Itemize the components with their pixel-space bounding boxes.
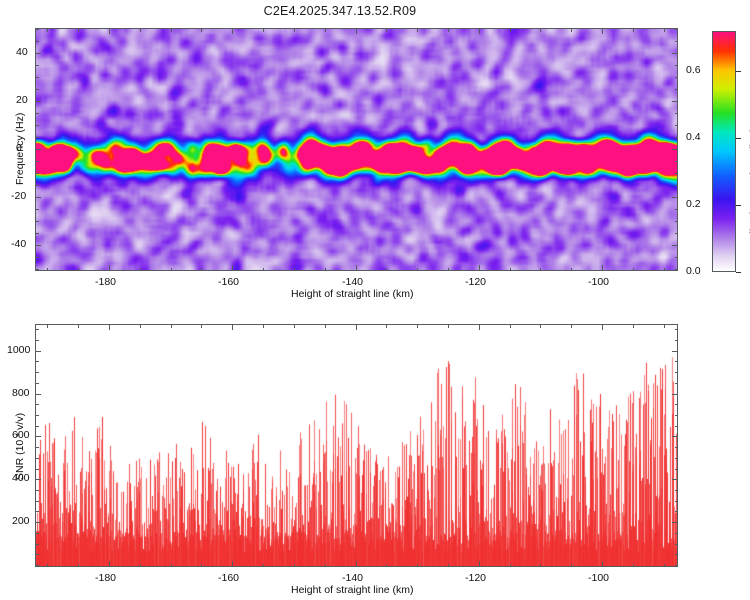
axis-tick	[672, 436, 678, 437]
axis-tick	[672, 479, 678, 480]
axis-tick	[294, 268, 295, 272]
axis-tick	[571, 564, 572, 568]
axis-tick	[675, 404, 679, 405]
axis-tick	[386, 324, 387, 328]
axis-tick	[602, 324, 603, 330]
axis-tick	[672, 522, 678, 523]
axis-tick	[675, 501, 679, 502]
axis-tick	[35, 436, 41, 437]
axis-tick	[633, 268, 634, 272]
axis-tick	[540, 28, 541, 32]
axis-tick	[232, 324, 233, 330]
axis-tick	[675, 209, 679, 210]
axis-tick	[171, 268, 172, 272]
axis-tick	[171, 28, 172, 32]
axis-tick	[78, 268, 79, 272]
axis-tick	[417, 564, 418, 568]
axis-tick	[78, 324, 79, 328]
axis-tick	[35, 221, 39, 222]
axis-tick	[417, 28, 418, 32]
axis-tick	[672, 149, 678, 150]
axis-tick	[448, 28, 449, 32]
colorbar-gradient	[713, 32, 735, 271]
axis-tick	[448, 324, 449, 328]
axis-tick	[672, 394, 678, 395]
axis-tick	[664, 268, 665, 272]
axis-tick	[672, 245, 678, 246]
spectrogram-ytick-label: 20	[16, 94, 28, 106]
axis-tick	[35, 125, 39, 126]
axis-tick	[35, 29, 39, 30]
axis-tick	[675, 221, 679, 222]
axis-tick	[35, 113, 39, 114]
axis-tick	[201, 564, 202, 568]
axis-tick	[140, 268, 141, 272]
axis-tick	[417, 324, 418, 328]
axis-tick	[675, 565, 679, 566]
axis-tick	[325, 324, 326, 328]
axis-tick	[602, 561, 603, 567]
axis-tick	[675, 447, 679, 448]
axis-tick	[35, 161, 39, 162]
axis-tick	[675, 415, 679, 416]
axis-tick	[35, 269, 39, 270]
axis-tick	[35, 329, 39, 330]
axis-tick	[35, 383, 39, 384]
axis-tick	[664, 28, 665, 32]
axis-tick	[78, 28, 79, 32]
axis-tick	[479, 265, 480, 271]
axis-tick	[675, 361, 679, 362]
axis-tick	[35, 565, 39, 566]
snr-xlabel: Height of straight line (km)	[291, 584, 414, 596]
axis-tick	[140, 564, 141, 568]
axis-tick	[201, 324, 202, 328]
snr-ytick-label: 800	[12, 387, 30, 399]
colorbar-tick	[736, 71, 741, 72]
axis-tick	[109, 561, 110, 567]
snr-xtick-label: -160	[218, 572, 239, 584]
axis-tick	[35, 245, 41, 246]
axis-tick	[386, 564, 387, 568]
axis-tick	[35, 501, 39, 502]
axis-tick	[294, 324, 295, 328]
axis-tick	[675, 257, 679, 258]
axis-tick	[675, 113, 679, 114]
axis-tick	[232, 28, 233, 34]
spectrogram-image	[36, 29, 677, 270]
axis-tick	[510, 28, 511, 32]
axis-tick	[386, 28, 387, 32]
axis-tick	[35, 447, 39, 448]
axis-tick	[35, 361, 39, 362]
axis-tick	[417, 268, 418, 272]
axis-tick	[571, 28, 572, 32]
axis-tick	[35, 533, 39, 534]
axis-tick	[672, 197, 678, 198]
spectrogram-ytick-label: 40	[16, 46, 28, 58]
axis-tick	[633, 324, 634, 328]
axis-tick	[232, 561, 233, 567]
axis-tick	[35, 394, 41, 395]
axis-tick	[386, 268, 387, 272]
axis-tick	[675, 77, 679, 78]
axis-tick	[675, 269, 679, 270]
axis-tick	[78, 564, 79, 568]
axis-tick	[263, 268, 264, 272]
axis-tick	[35, 185, 39, 186]
axis-tick	[35, 372, 39, 373]
colorbar-tick	[736, 138, 741, 139]
axis-tick	[675, 458, 679, 459]
axis-tick	[35, 340, 39, 341]
spectrogram-ylabel: Frequency (Hz)	[14, 113, 26, 185]
axis-tick	[675, 125, 679, 126]
axis-tick	[35, 479, 41, 480]
axis-tick	[672, 351, 678, 352]
axis-tick	[47, 28, 48, 32]
axis-tick	[35, 458, 39, 459]
axis-tick	[35, 197, 41, 198]
snr-xtick-label: -140	[342, 572, 363, 584]
axis-tick	[675, 340, 679, 341]
axis-tick	[510, 564, 511, 568]
spectrogram-ytick-label: -40	[11, 238, 26, 250]
colorbar	[712, 31, 736, 272]
snr-ytick-label: 200	[12, 515, 30, 527]
snr-panel	[35, 324, 678, 567]
colorbar-tick-label: 0.0	[686, 265, 701, 277]
axis-tick	[109, 28, 110, 34]
page-title: C2E4.2025.347.13.52.R09	[0, 4, 680, 18]
figure-root: C2E4.2025.347.13.52.R09 -180-160-140-120…	[0, 0, 750, 600]
axis-tick	[672, 53, 678, 54]
axis-tick	[35, 522, 41, 523]
axis-tick	[109, 265, 110, 271]
axis-tick	[356, 561, 357, 567]
axis-tick	[675, 41, 679, 42]
colorbar-tick	[736, 205, 741, 206]
axis-tick	[35, 554, 39, 555]
axis-tick	[571, 324, 572, 328]
snr-xtick-label: -100	[588, 572, 609, 584]
axis-tick	[35, 65, 39, 66]
axis-tick	[35, 233, 39, 234]
axis-tick	[448, 268, 449, 272]
axis-tick	[35, 77, 39, 78]
axis-tick	[479, 561, 480, 567]
axis-tick	[448, 564, 449, 568]
axis-tick	[479, 28, 480, 34]
spectrogram-xtick-label: -100	[588, 276, 609, 288]
axis-tick	[35, 351, 41, 352]
spectrogram-xtick-label: -160	[218, 276, 239, 288]
axis-tick	[325, 564, 326, 568]
axis-tick	[263, 28, 264, 32]
axis-tick	[35, 173, 39, 174]
axis-tick	[35, 209, 39, 210]
snr-xtick-label: -120	[465, 572, 486, 584]
axis-tick	[35, 257, 39, 258]
axis-tick	[675, 161, 679, 162]
axis-tick	[140, 324, 141, 328]
axis-tick	[633, 564, 634, 568]
axis-tick	[602, 265, 603, 271]
axis-tick	[35, 41, 39, 42]
axis-tick	[675, 533, 679, 534]
spectrogram-xtick-label: -120	[465, 276, 486, 288]
axis-tick	[294, 28, 295, 32]
colorbar-tick-label: 0.6	[686, 64, 701, 76]
axis-tick	[540, 324, 541, 328]
axis-tick	[675, 137, 679, 138]
axis-tick	[675, 185, 679, 186]
axis-tick	[633, 28, 634, 32]
axis-tick	[47, 564, 48, 568]
axis-tick	[675, 29, 679, 30]
axis-tick	[602, 28, 603, 34]
colorbar-tick-label: 0.2	[686, 198, 701, 210]
axis-tick	[140, 28, 141, 32]
axis-tick	[510, 324, 511, 328]
axis-tick	[35, 404, 39, 405]
axis-tick	[35, 426, 39, 427]
spectrogram-xlabel: Height of straight line (km)	[291, 288, 414, 300]
snr-xtick-label: -180	[95, 572, 116, 584]
axis-tick	[675, 490, 679, 491]
axis-tick	[325, 268, 326, 272]
axis-tick	[675, 89, 679, 90]
axis-tick	[171, 324, 172, 328]
snr-ylabel: SNR (10 * v/v)	[14, 413, 26, 480]
axis-tick	[675, 233, 679, 234]
axis-tick	[675, 511, 679, 512]
axis-tick	[540, 268, 541, 272]
axis-tick	[540, 564, 541, 568]
axis-tick	[675, 173, 679, 174]
axis-tick	[35, 511, 39, 512]
snr-ytick-label: 1000	[7, 344, 30, 356]
axis-tick	[35, 89, 39, 90]
axis-tick	[571, 268, 572, 272]
axis-tick	[35, 101, 41, 102]
axis-tick	[675, 554, 679, 555]
axis-tick	[675, 544, 679, 545]
colorbar-tick	[736, 272, 741, 273]
axis-tick	[109, 324, 110, 330]
axis-tick	[675, 372, 679, 373]
axis-tick	[675, 65, 679, 66]
axis-tick	[510, 268, 511, 272]
axis-tick	[263, 324, 264, 328]
axis-tick	[35, 53, 41, 54]
spectrogram-xtick-label: -180	[95, 276, 116, 288]
axis-tick	[35, 415, 39, 416]
axis-tick	[356, 265, 357, 271]
axis-tick	[672, 101, 678, 102]
axis-tick	[664, 564, 665, 568]
axis-tick	[201, 28, 202, 32]
axis-tick	[294, 564, 295, 568]
axis-tick	[675, 469, 679, 470]
axis-tick	[35, 490, 39, 491]
axis-tick	[356, 28, 357, 34]
colorbar-tick-label: 0.4	[686, 131, 701, 143]
axis-tick	[664, 324, 665, 328]
axis-tick	[263, 564, 264, 568]
axis-tick	[35, 544, 39, 545]
axis-tick	[35, 469, 39, 470]
axis-tick	[35, 149, 41, 150]
snr-trace	[36, 325, 677, 566]
axis-tick	[232, 265, 233, 271]
spectrogram-panel	[35, 28, 678, 271]
axis-tick	[201, 268, 202, 272]
axis-tick	[479, 324, 480, 330]
axis-tick	[171, 564, 172, 568]
axis-tick	[47, 268, 48, 272]
axis-tick	[47, 324, 48, 328]
axis-tick	[675, 426, 679, 427]
spectrogram-ytick-label: -20	[11, 190, 26, 202]
axis-tick	[325, 28, 326, 32]
axis-tick	[356, 324, 357, 330]
axis-tick	[675, 329, 679, 330]
spectrogram-xtick-label: -140	[342, 276, 363, 288]
axis-tick	[35, 137, 39, 138]
axis-tick	[675, 383, 679, 384]
